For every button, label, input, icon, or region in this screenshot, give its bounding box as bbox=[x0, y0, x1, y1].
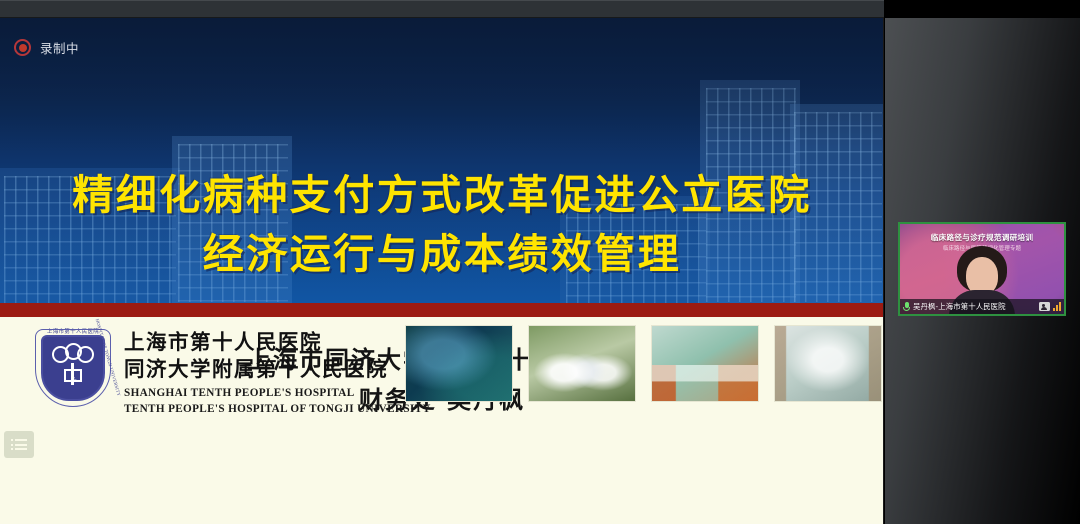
crest-center-box: 十 bbox=[64, 369, 82, 382]
logo-en-line1: SHANGHAI TENTH PEOPLE'S HOSPITAL bbox=[124, 386, 431, 401]
microphone-icon[interactable] bbox=[903, 302, 910, 312]
screen-capture-window: 录制中 精细化病种支付方式改革促进公立医院 经济运行与成本绩效管理 上海市同济大… bbox=[0, 0, 1080, 524]
participant-name-bar: 吴丹枫-上海市第十人民医院 bbox=[900, 299, 1064, 314]
photo-doctors-patient-outdoor bbox=[528, 325, 636, 402]
crest-center-glyph: 十 bbox=[70, 375, 76, 384]
record-dot-icon bbox=[14, 39, 31, 56]
slide-lower-section: 上海市同济大学附属第十人民医院 财务处 吴丹枫 上海市第十人民医院 TENTH … bbox=[0, 317, 884, 524]
backdrop-banner-text: 临床路径与诊疗规范调研培训 bbox=[900, 232, 1064, 243]
logo-en-line2: TENTH PEOPLE'S HOSPITAL OF TONGJI UNIVER… bbox=[124, 402, 431, 417]
recording-label: 录制中 bbox=[40, 38, 79, 57]
slide-hero-banner: 录制中 精细化病种支付方式改革促进公立医院 经济运行与成本绩效管理 bbox=[0, 18, 884, 303]
logo-cn-line2: 同济大学附属第十人民医院 bbox=[124, 356, 431, 383]
toolbar-highlight bbox=[0, 0, 884, 1]
video-tile-active-speaker[interactable]: 临床路径与诊疗规范调研培训 临床路径与医院精细化管理专题 吴丹枫-上海市第十人民… bbox=[898, 222, 1066, 316]
signal-bars-icon bbox=[1053, 302, 1061, 311]
shared-screen-slide[interactable]: 录制中 精细化病种支付方式改革促进公立医院 经济运行与成本绩效管理 上海市同济大… bbox=[0, 18, 884, 524]
photo-hospital-corridor bbox=[774, 325, 882, 402]
slide-title-line2: 经济运行与成本绩效管理 bbox=[0, 225, 884, 284]
participant-panel: 临床路径与诊疗规范调研培训 临床路径与医院精细化管理专题 吴丹枫-上海市第十人民… bbox=[885, 18, 1080, 524]
meeting-toolbar bbox=[0, 0, 884, 18]
hospital-wordmark: 上海市第十人民医院 同济大学附属第十人民医院 SHANGHAI TENTH PE… bbox=[124, 329, 431, 417]
photo-surgery-imaging bbox=[405, 325, 513, 402]
hospital-crest-logo: 上海市第十人民医院 TENTH PEOPLE'S HOSPITAL OF TON… bbox=[32, 325, 114, 411]
photo-nurse-station bbox=[651, 325, 759, 402]
logo-cn-line1: 上海市第十人民医院 bbox=[124, 329, 431, 356]
slide-title-line1: 精细化病种支付方式改革促进公立医院 bbox=[0, 166, 884, 225]
recording-indicator: 录制中 bbox=[14, 38, 79, 57]
slide-divider-bar bbox=[0, 303, 884, 317]
slide-title: 精细化病种支付方式改革促进公立医院 经济运行与成本绩效管理 bbox=[0, 166, 884, 285]
list-menu-icon[interactable] bbox=[4, 431, 34, 458]
participants-icon[interactable] bbox=[1039, 302, 1050, 311]
menu-dots bbox=[11, 439, 13, 450]
participant-name-label: 吴丹枫-上海市第十人民医院 bbox=[913, 301, 1036, 312]
